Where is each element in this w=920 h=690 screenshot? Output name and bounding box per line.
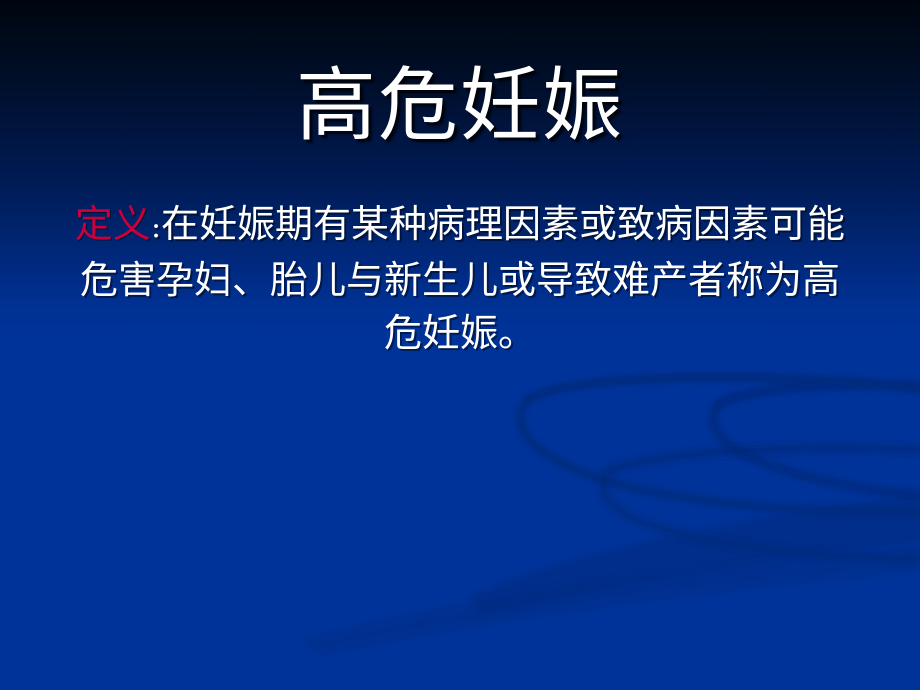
presentation-slide: 高危妊娠 定义:在妊娠期有某种病理因素或致病因素可能危害孕妇、胎儿与新生儿或导致…	[0, 0, 920, 690]
definition-separator: :	[151, 210, 161, 245]
slide-body: 定义:在妊娠期有某种病理因素或致病因素可能危害孕妇、胎儿与新生儿或导致难产者称为…	[62, 198, 858, 360]
slide-title-text: 高危妊娠	[296, 58, 624, 154]
definition-text: 在妊娠期有某种病理因素或致病因素可能危害孕妇、胎儿与新生儿或导致难产者称为高危妊…	[80, 202, 845, 355]
definition-paragraph: 定义:在妊娠期有某种病理因素或致病因素可能危害孕妇、胎儿与新生儿或导致难产者称为…	[62, 198, 858, 360]
definition-term: 定义	[75, 202, 151, 246]
slide-title: 高危妊娠	[0, 58, 920, 154]
